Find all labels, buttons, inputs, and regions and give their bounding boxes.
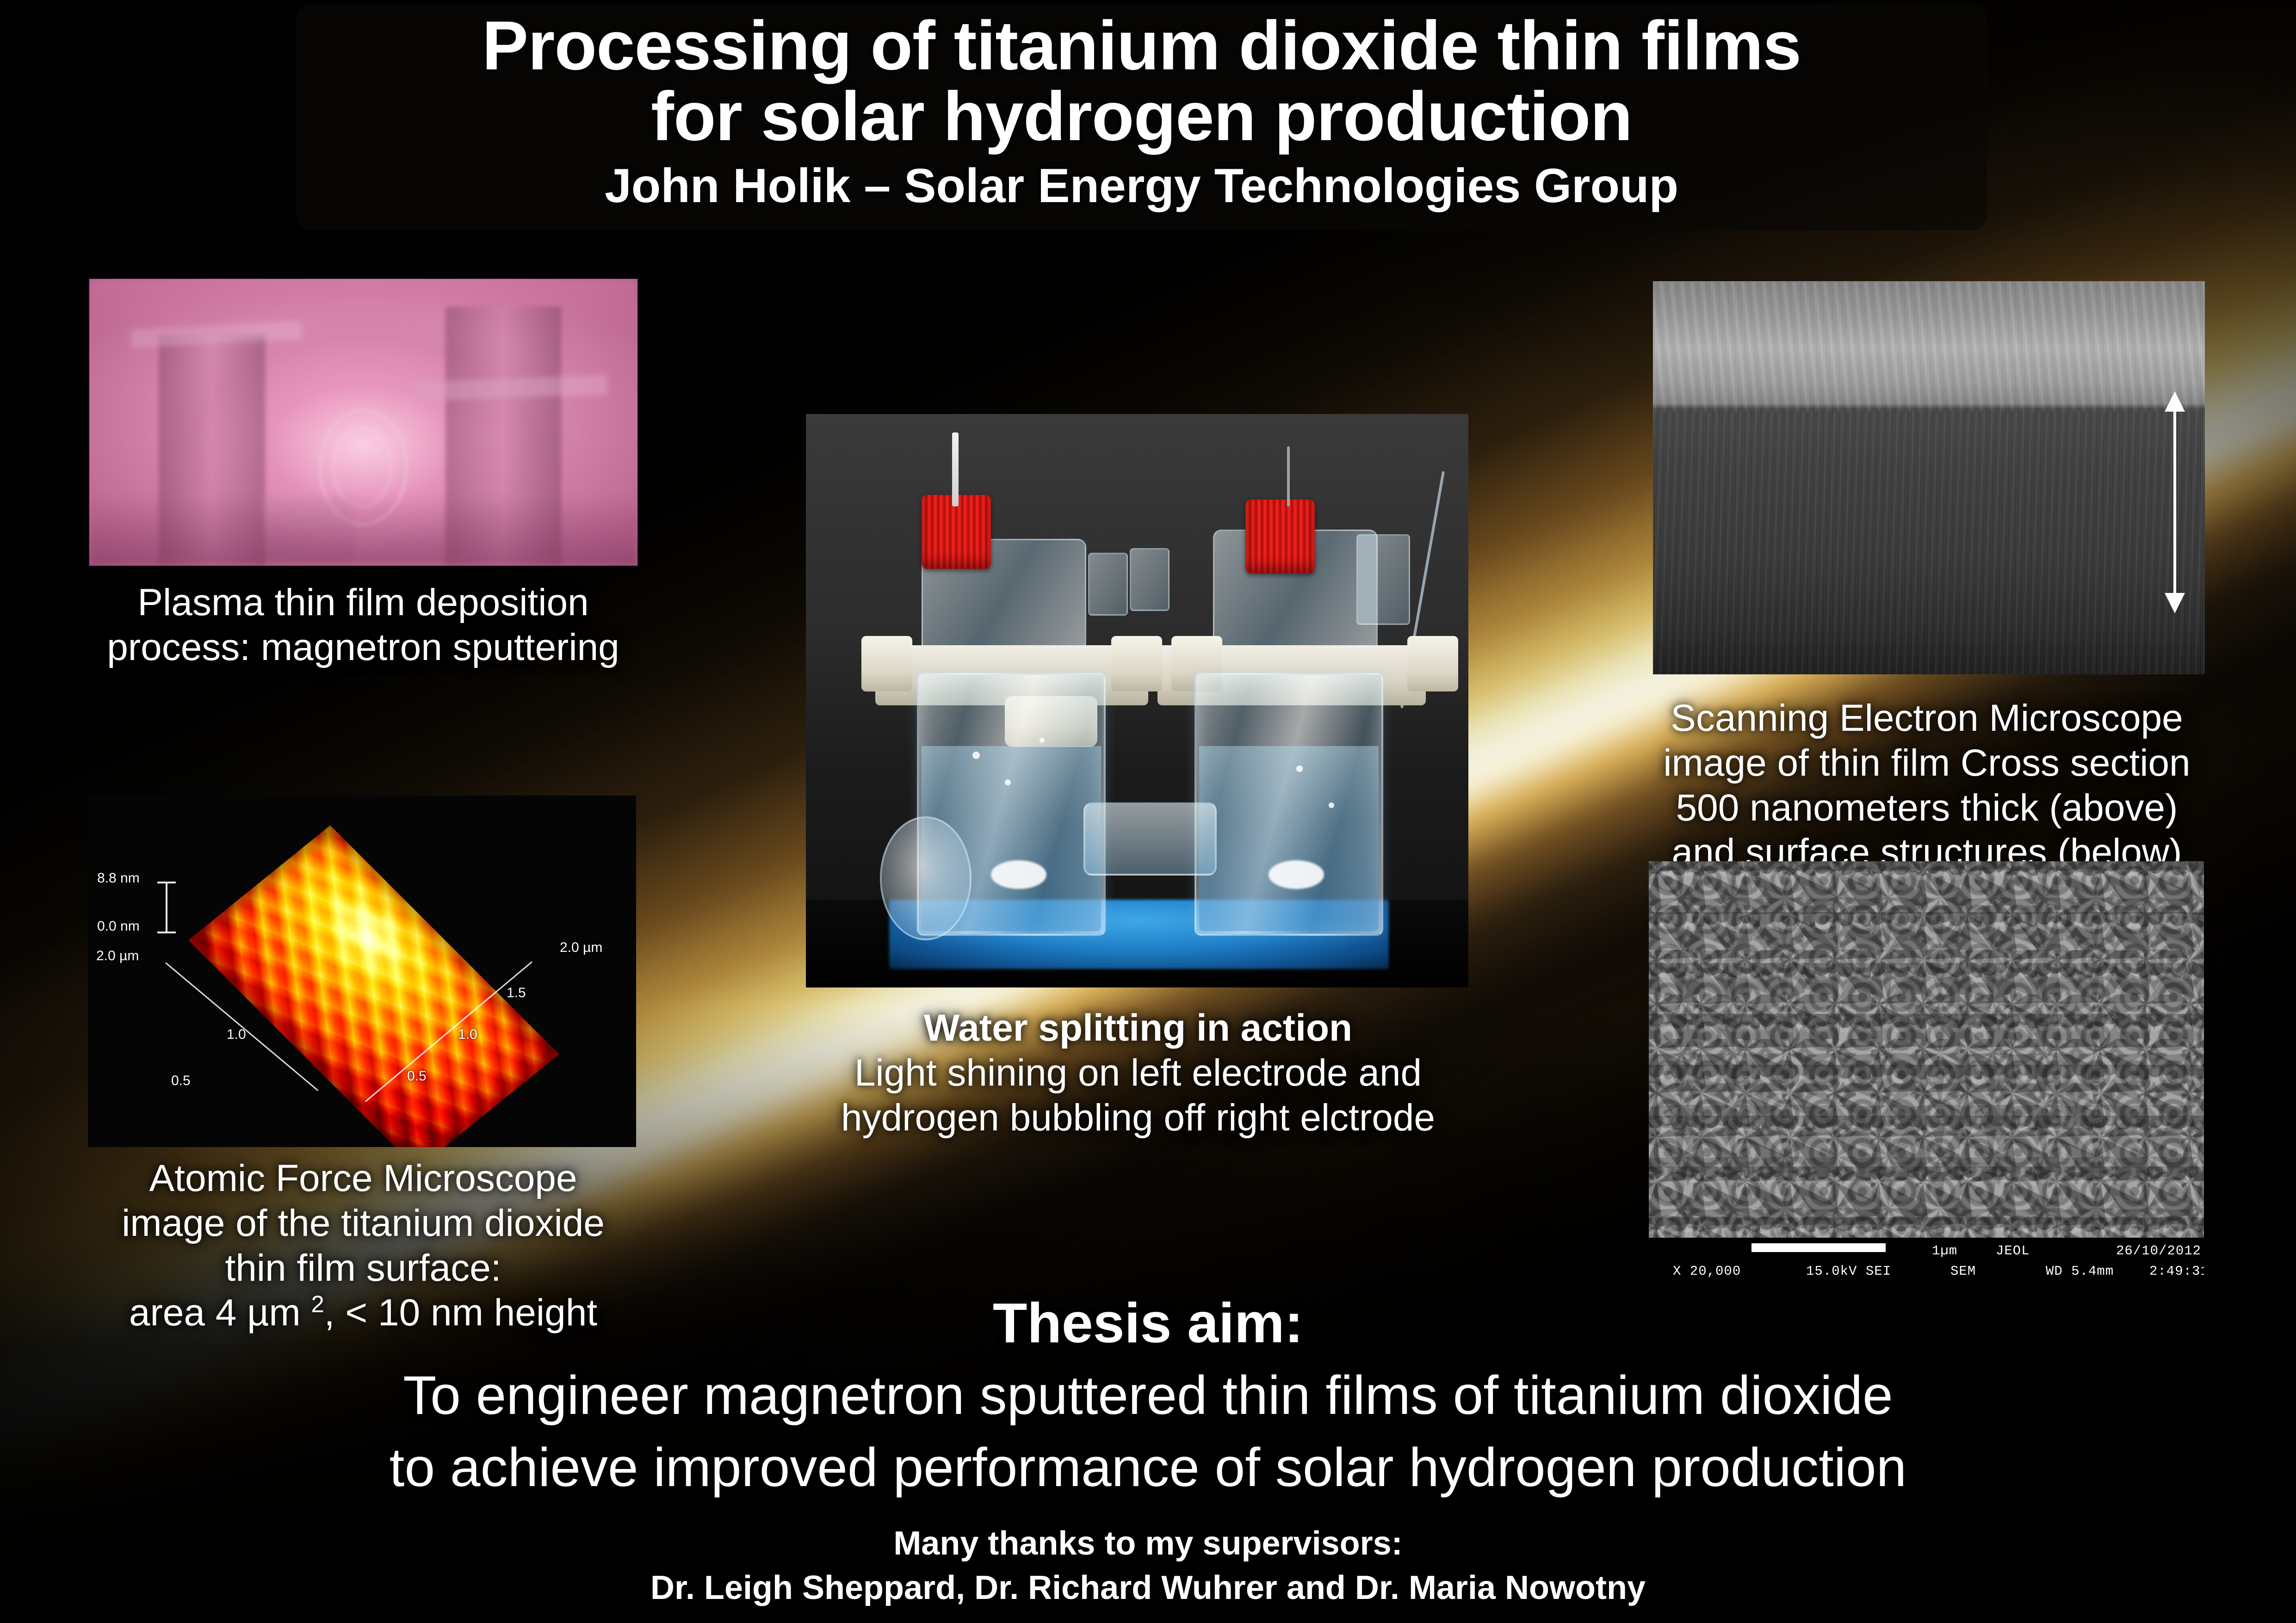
plasma-target-ring-inner <box>332 427 392 508</box>
cell-caption-heading: Water splitting in action <box>786 1006 1490 1051</box>
plasma-column-cap-right <box>413 375 607 401</box>
cell-right-chamber <box>1194 673 1383 936</box>
cell-clamp-block-4 <box>1407 636 1458 691</box>
cell-bubble-4 <box>1296 765 1303 772</box>
cell-caption: Water splitting in action Light shining … <box>786 1006 1490 1140</box>
afm-caption-line1: Atomic Force Microscope <box>60 1156 666 1201</box>
sem-cross-section-image <box>1653 281 2205 674</box>
plasma-caption-line2: process: magnetron sputtering <box>69 625 657 670</box>
acknowledgement-line1: Many thanks to my supervisors: <box>0 1522 2296 1566</box>
cell-left-probe-rod <box>952 432 959 506</box>
cell-salt-bridge <box>1083 802 1217 876</box>
cell-right-electrode-wire <box>1287 446 1290 506</box>
thesis-aim-line1: To engineer magnetron sputtered thin fil… <box>0 1360 2296 1432</box>
afm-caption-line3: thin film surface: <box>60 1246 666 1291</box>
plasma-deposition-image <box>88 278 639 567</box>
page-subtitle: John Holik – Solar Energy Technologies G… <box>296 152 1987 215</box>
cell-left-side-port <box>1088 553 1128 616</box>
acknowledgement: Many thanks to my supervisors: Dr. Leigh… <box>0 1522 2296 1611</box>
afm-axis-right-tick-1-0: 1.0 <box>458 1027 477 1043</box>
poster-canvas: Processing of titanium dioxide thin film… <box>0 0 2296 1623</box>
water-splitting-cell-image <box>806 414 1468 987</box>
page-title-line1: Processing of titanium dioxide thin film… <box>296 0 1987 81</box>
thesis-aim-body: To engineer magnetron sputtered thin fil… <box>0 1360 2296 1504</box>
cell-bubble-5 <box>1329 802 1334 808</box>
film-thickness-arrow-icon <box>2173 410 2176 595</box>
afm-axis-right-tick-1-5: 1.5 <box>507 985 526 1001</box>
cell-bubble-1 <box>972 752 980 759</box>
acknowledgement-line2: Dr. Leigh Sheppard, Dr. Richard Wuhrer a… <box>0 1566 2296 1611</box>
sem-cross-section-grain <box>1653 281 2205 674</box>
afm-image: 8.8 nm 0.0 nm 2.0 µm 0.5 1.0 1.5 2.0 µm … <box>88 796 636 1147</box>
cell-clamp-block-2 <box>1111 636 1162 691</box>
sem-instrument-label: SEM <box>1950 1264 1976 1279</box>
plasma-caption: Plasma thin film deposition process: mag… <box>69 580 657 670</box>
thesis-aim-heading: Thesis aim: <box>0 1290 2296 1355</box>
sem-scale-length-label: 1µm <box>1932 1243 1957 1259</box>
plasma-bottom-shadow <box>89 496 637 566</box>
sem-info-bar: 1µm JEOL 26/10/2012 X 20,000 15.0kV SEI … <box>1649 1238 2204 1282</box>
sem-magnification-label: X 20,000 <box>1673 1264 1741 1279</box>
cell-right-window-disc <box>1269 860 1324 889</box>
afm-caption-line2: image of the titanium dioxide <box>60 1201 666 1246</box>
sem-working-distance-label: WD 5.4mm <box>2046 1264 2114 1279</box>
cell-clamp-block-1 <box>861 636 912 691</box>
afm-z-max-label: 8.8 nm <box>97 870 140 886</box>
thesis-aim-line2: to achieve improved performance of solar… <box>0 1432 2296 1504</box>
cell-left-window-disc <box>991 860 1046 889</box>
afm-z-min-label: 0.0 nm <box>97 919 140 934</box>
sem-caption: Scanning Electron Microscope image of th… <box>1628 696 2225 875</box>
cell-right-condenser <box>1356 534 1410 625</box>
cell-focusing-lens <box>880 816 972 940</box>
cell-left-side-port-2 <box>1130 548 1170 611</box>
afm-z-axis-top-tick <box>157 882 176 883</box>
cell-right-electrolyte <box>1199 746 1379 931</box>
afm-axis-right-scale-label: 2.0 µm <box>560 940 602 956</box>
afm-z-axis-bottom-tick <box>157 932 176 933</box>
sem-caption-line2: image of thin film Cross section <box>1628 741 2225 786</box>
cell-bubble-2 <box>1005 779 1011 785</box>
plasma-caption-line1: Plasma thin film deposition <box>69 580 657 625</box>
page-title-line2: for solar hydrogen production <box>296 81 1987 152</box>
sem-surface-tone <box>1649 861 2204 1282</box>
sem-scale-bar <box>1751 1243 1886 1252</box>
sem-date-label: 26/10/2012 <box>2116 1243 2201 1259</box>
afm-axis-left-tick-0: 0.5 <box>171 1073 191 1089</box>
afm-axis-right-tick-0-5: 0.5 <box>407 1068 427 1084</box>
sem-surface-image: 1µm JEOL 26/10/2012 X 20,000 15.0kV SEI … <box>1649 861 2204 1282</box>
afm-axis-left-tick-1: 1.0 <box>227 1027 246 1043</box>
sem-voltage-mode-label: 15.0kV SEI <box>1806 1264 1891 1279</box>
title-block: Processing of titanium dioxide thin film… <box>296 0 1987 215</box>
cell-caption-line3: hydrogen bubbling off right elctrode <box>786 1096 1490 1141</box>
sem-time-label: 2:49:31 <box>2149 1264 2204 1279</box>
cell-caption-line2: Light shining on left electrode and <box>786 1051 1490 1096</box>
cell-bubble-3 <box>1040 738 1045 743</box>
sem-caption-line1: Scanning Electron Microscope <box>1628 696 2225 741</box>
cell-right-red-cap <box>1245 500 1315 574</box>
afm-z-axis-line <box>166 882 167 933</box>
sem-caption-line3: 500 nanometers thick (above) <box>1628 786 2225 831</box>
afm-axis-left-scale-label: 2.0 µm <box>96 948 139 964</box>
sem-maker-label: JEOL <box>1996 1243 2030 1259</box>
